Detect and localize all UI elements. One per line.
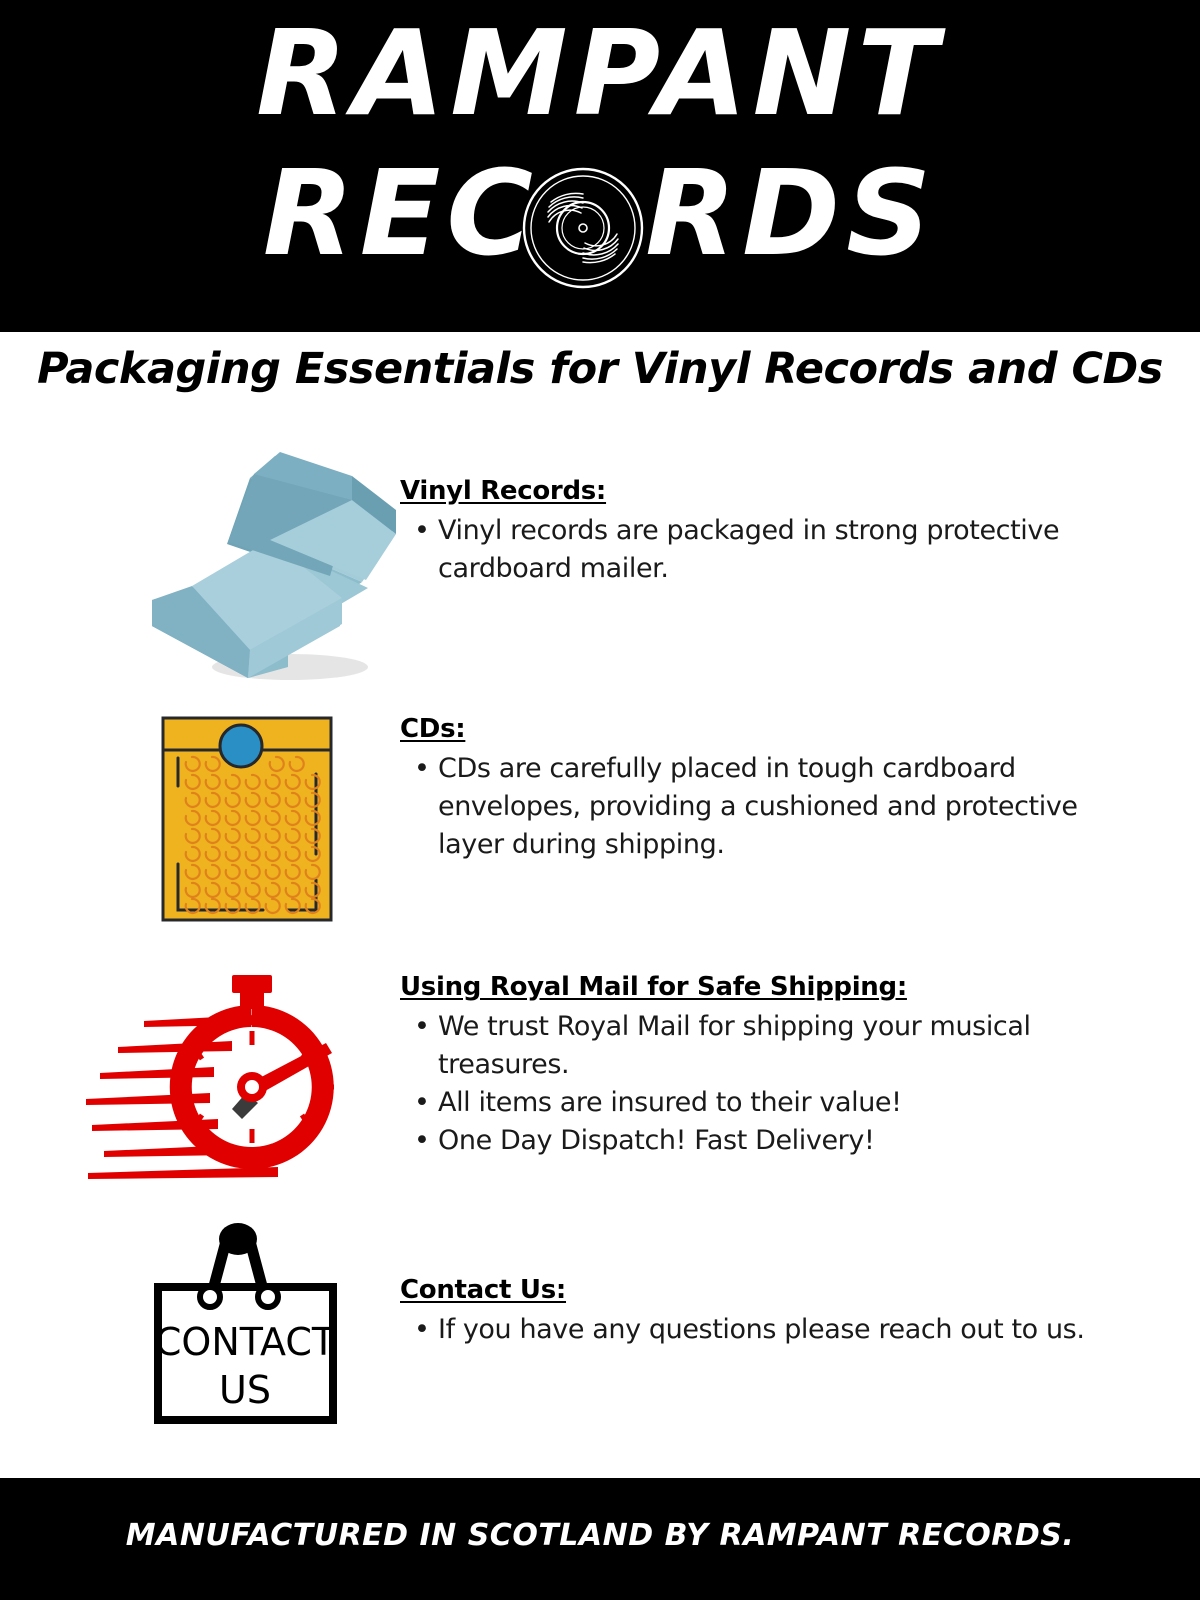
footer-banner: MANUFACTURED IN SCOTLAND BY RAMPANT RECO… xyxy=(0,1478,1200,1600)
list-item: CDs are carefully placed in tough cardbo… xyxy=(438,750,1120,864)
section-vinyl-bullet-list: Vinyl records are packaged in strong pro… xyxy=(400,512,1120,588)
section-cds-bullet-list: CDs are carefully placed in tough cardbo… xyxy=(400,750,1120,864)
list-item: All items are insured to their value! xyxy=(438,1084,1120,1122)
list-item: One Day Dispatch! Fast Delivery! xyxy=(438,1122,1120,1160)
brand-logo-line-2-after: RDS xyxy=(645,144,937,282)
footer-text: MANUFACTURED IN SCOTLAND BY RAMPANT RECO… xyxy=(0,1514,1200,1558)
section-cds-heading: CDs: xyxy=(400,712,1120,746)
contact-us-sign-icon: CONTACT US xyxy=(150,1215,350,1430)
list-item: Vinyl records are packaged in strong pro… xyxy=(438,512,1120,588)
section-contact-us-heading: Contact Us: xyxy=(400,1273,1120,1307)
brand-logo-line-2-before: REC xyxy=(263,144,539,282)
header-banner: RAMPANT RECORDS xyxy=(0,0,1200,332)
section-cds-text: CDs: CDs are carefully placed in tough c… xyxy=(400,712,1120,864)
section-contact-us-bullet-list: If you have any questions please reach o… xyxy=(400,1311,1120,1349)
brand-logo-line-1: RAMPANT xyxy=(0,8,1200,138)
list-item: We trust Royal Mail for shipping your mu… xyxy=(438,1008,1120,1084)
section-contact-us-text: Contact Us: If you have any questions pl… xyxy=(400,1273,1120,1349)
brand-logo-line-2: RECORDS xyxy=(0,148,1200,278)
brand-logo-line-2-wrapper: RECORDS xyxy=(0,148,1200,308)
section-royal-mail-bullet-list: We trust Royal Mail for shipping your mu… xyxy=(400,1008,1120,1160)
list-item: If you have any questions please reach o… xyxy=(438,1311,1120,1349)
section-vinyl-heading: Vinyl Records: xyxy=(400,474,1120,508)
stopwatch-speed-icon xyxy=(82,965,347,1200)
section-royal-mail-text: Using Royal Mail for Safe Shipping: We t… xyxy=(400,970,1120,1160)
padded-envelope-icon xyxy=(158,714,338,924)
section-royal-mail-heading: Using Royal Mail for Safe Shipping: xyxy=(400,970,1120,1004)
contact-sign-line-2: US xyxy=(219,1368,271,1412)
contact-sign-line-1: CONTACT xyxy=(155,1320,336,1364)
section-vinyl-text: Vinyl Records: Vinyl records are package… xyxy=(400,474,1120,588)
cardboard-mailer-box-icon xyxy=(130,430,400,690)
page-subtitle: Packaging Essentials for Vinyl Records a… xyxy=(0,340,1200,398)
